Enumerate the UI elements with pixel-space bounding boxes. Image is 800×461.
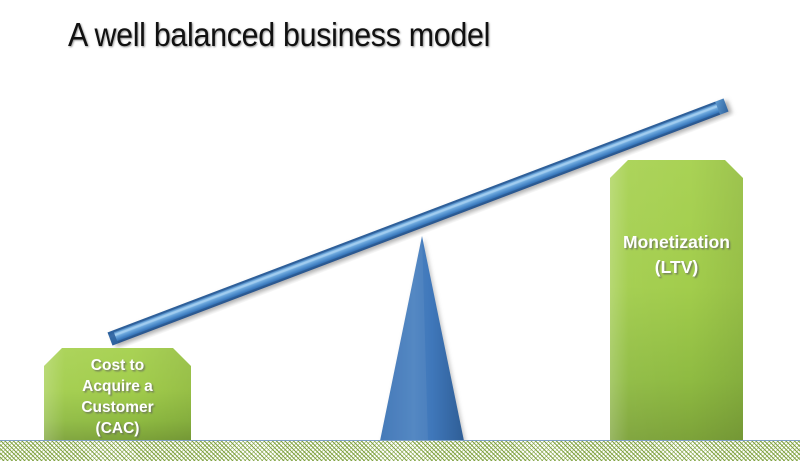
cac-box-label: Cost to Acquire a Customer (CAC) <box>44 355 191 439</box>
ltv-box[interactable]: Monetization (LTV) <box>610 160 743 441</box>
fulcrum-triangle <box>378 236 466 441</box>
ground-hatch <box>0 440 800 461</box>
slide-canvas: A well balanced business model <box>0 0 800 461</box>
cac-box[interactable]: Cost to Acquire a Customer (CAC) <box>44 348 191 441</box>
ltv-box-label: Monetization (LTV) <box>610 230 743 280</box>
page-title: A well balanced business model <box>68 14 712 56</box>
